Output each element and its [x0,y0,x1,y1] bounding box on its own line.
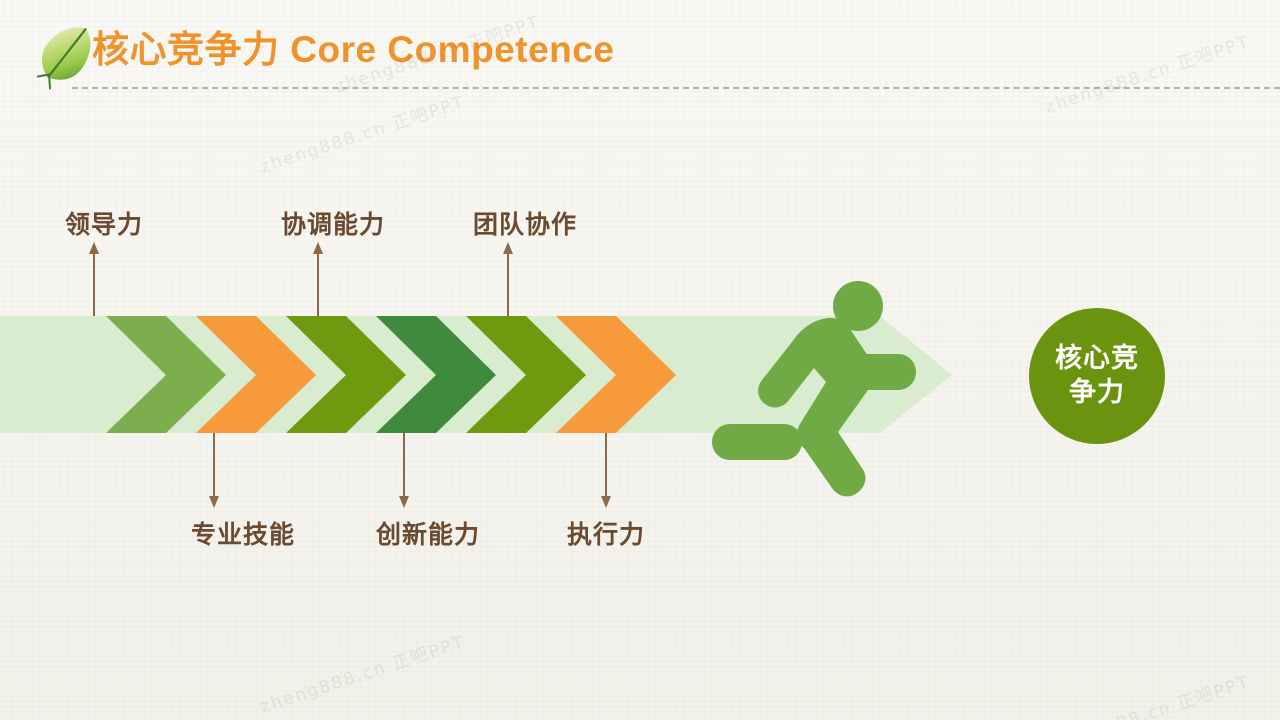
leader-arrow-top-3 [503,242,513,254]
core-competence-badge: 核心竞 争力 [1029,308,1165,444]
badge-line-1: 核心竞 [1055,342,1139,376]
slide-canvas: 核心竞争力 Core Competence [0,0,1280,720]
leader-arrow-bot-1 [209,496,219,508]
running-person-icon [700,276,930,506]
badge-line-2: 争力 [1069,376,1125,410]
leader-arrow-top-1 [89,242,99,254]
label-execution: 执行力 [567,515,645,551]
core-competence-diagram: 领导力 协调能力 团队协作 专业技能 创新能力 执行力 核心竞 争力 [0,0,1280,720]
leader-arrow-bot-2 [399,496,409,508]
label-leadership: 领导力 [65,205,143,241]
label-teamwork: 团队协作 [473,205,577,241]
label-innovation: 创新能力 [376,515,480,551]
label-coordination: 协调能力 [281,205,385,241]
leader-arrow-top-2 [313,242,323,254]
leader-arrow-bot-3 [601,496,611,508]
label-professional-skill: 专业技能 [191,515,295,551]
